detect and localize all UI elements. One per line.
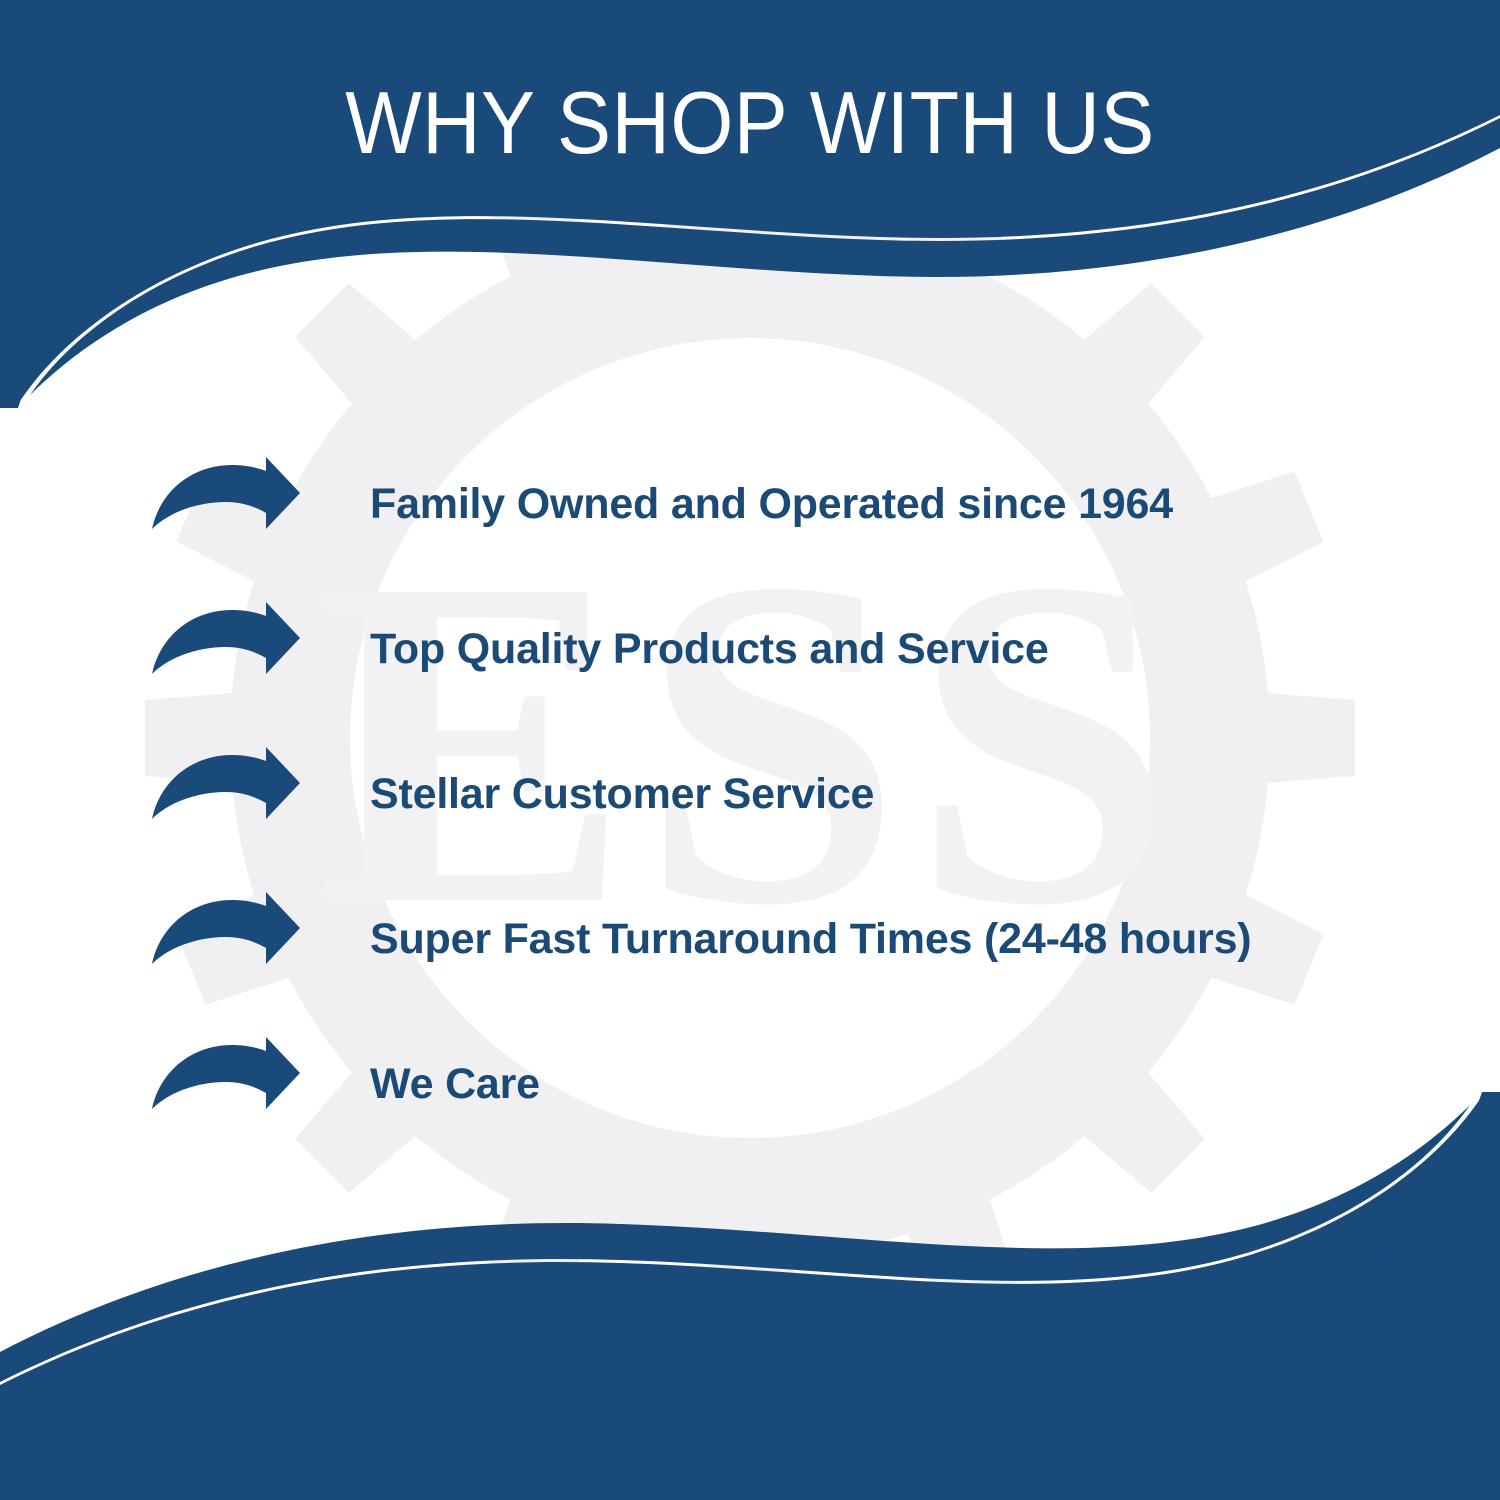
page-title: WHY SHOP WITH US bbox=[60, 77, 1440, 169]
curved-arrow-right-icon bbox=[148, 602, 300, 698]
benefit-label: Family Owned and Operated since 1964 bbox=[370, 480, 1173, 529]
list-item: Super Fast Turnaround Times (24-48 hours… bbox=[148, 867, 1438, 1012]
list-item: Stellar Customer Service bbox=[148, 722, 1438, 867]
list-item: We Care bbox=[148, 1012, 1438, 1157]
curved-arrow-right-icon bbox=[148, 892, 300, 988]
benefit-label: We Care bbox=[370, 1060, 540, 1109]
promo-banner: ESS WHY SHOP WITH US Family Owned and Op… bbox=[0, 0, 1500, 1500]
list-item: Top Quality Products and Service bbox=[148, 577, 1438, 722]
benefit-label: Super Fast Turnaround Times (24-48 hours… bbox=[370, 915, 1251, 964]
list-item: Family Owned and Operated since 1964 bbox=[148, 432, 1438, 577]
benefit-label: Stellar Customer Service bbox=[370, 770, 874, 819]
curved-arrow-right-icon bbox=[148, 1037, 300, 1133]
curved-arrow-right-icon bbox=[148, 457, 300, 553]
curved-arrow-right-icon bbox=[148, 747, 300, 843]
benefits-list: Family Owned and Operated since 1964 Top… bbox=[148, 432, 1438, 1157]
benefit-label: Top Quality Products and Service bbox=[370, 625, 1049, 674]
